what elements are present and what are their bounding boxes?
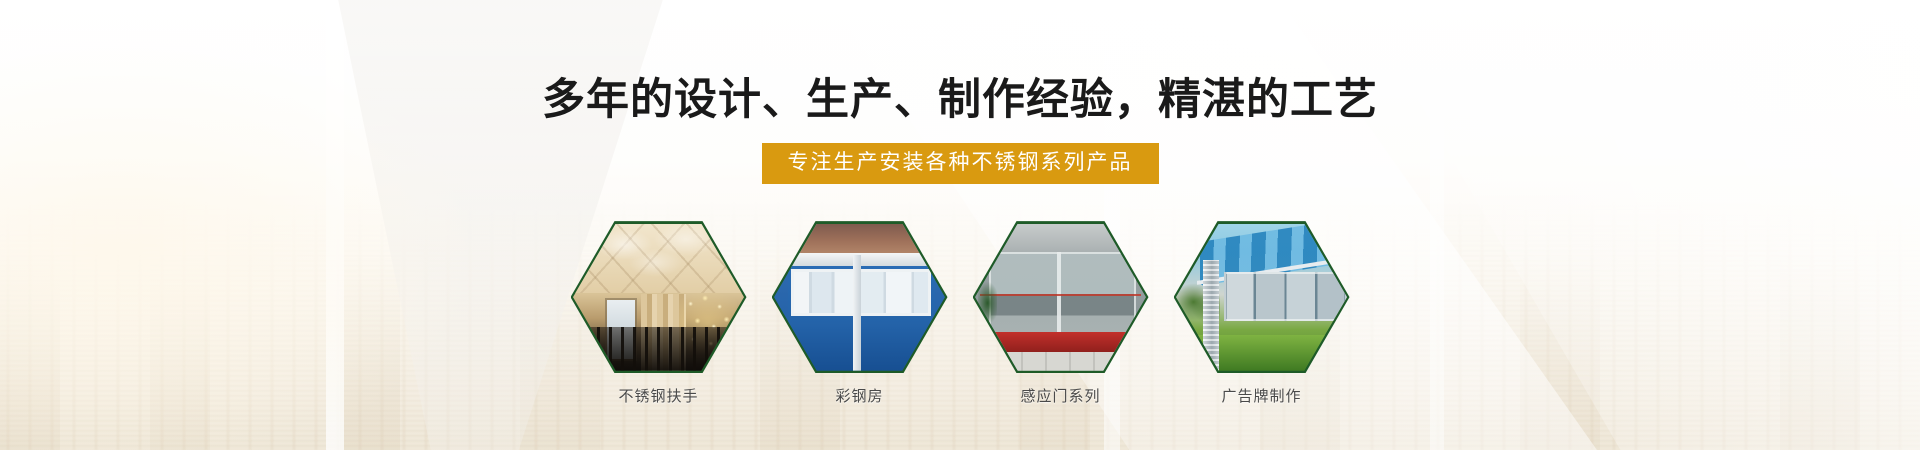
product-label: 彩钢房 — [835, 385, 883, 406]
banner-subtitle-badge: 专注生产安装各种不锈钢系列产品 — [762, 143, 1159, 184]
hexagon-frame[interactable] — [571, 221, 747, 373]
product-item-stainless-handrail[interactable]: 不锈钢扶手 — [571, 221, 747, 406]
product-label: 广告牌制作 — [1221, 385, 1301, 406]
hexagon-frame[interactable] — [1174, 221, 1350, 373]
hexagon-frame[interactable] — [973, 221, 1149, 373]
product-label: 不锈钢扶手 — [618, 385, 698, 406]
product-item-color-steel-house[interactable]: 彩钢房 — [772, 221, 948, 406]
banner-content: 多年的设计、生产、制作经验，精湛的工艺 专注生产安装各种不锈钢系列产品 — [0, 0, 1920, 450]
product-hexagon-row: 不锈钢扶手 彩钢房 — [571, 221, 1350, 406]
billboard-making-photo — [1176, 224, 1347, 371]
promo-banner: 多年的设计、生产、制作经验，精湛的工艺 专注生产安装各种不锈钢系列产品 — [0, 0, 1920, 450]
sensor-door-photo — [975, 224, 1146, 371]
product-item-sensor-door[interactable]: 感应门系列 — [973, 221, 1149, 406]
product-item-billboard-making[interactable]: 广告牌制作 — [1174, 221, 1350, 406]
hexagon-frame[interactable] — [772, 221, 948, 373]
stainless-handrail-photo — [573, 224, 744, 371]
product-label: 感应门系列 — [1020, 385, 1100, 406]
banner-headline: 多年的设计、生产、制作经验，精湛的工艺 — [542, 78, 1378, 123]
color-steel-house-photo — [774, 224, 945, 371]
